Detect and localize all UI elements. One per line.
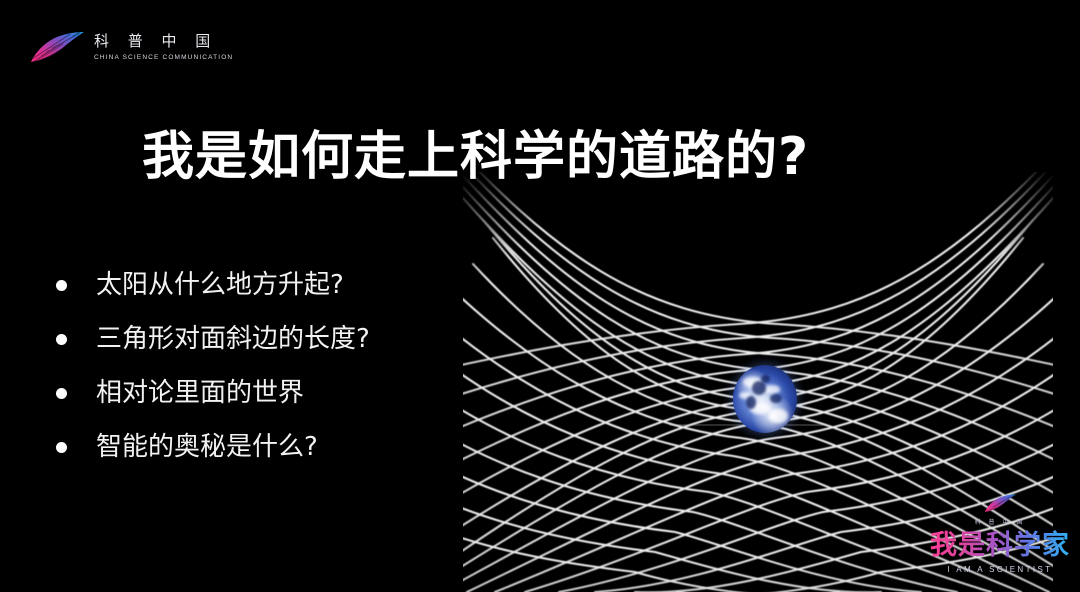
bullet-list: 太阳从什么地方升起? 三角形对面斜边的长度? 相对论里面的世界 智能的奥秘是什么… — [56, 258, 456, 474]
bullet-dot-icon — [56, 334, 67, 345]
kepu-china-fan-mark-icon — [28, 30, 86, 70]
list-item: 太阳从什么地方升起? — [56, 258, 456, 312]
footer-logo-en-text: I AM A SCIENTIST — [928, 564, 1072, 575]
presentation-slide: 科 普 中 国 CHINA SCIENCE COMMUNICATION 我是如何… — [0, 0, 1080, 592]
header-logo: 科 普 中 国 CHINA SCIENCE COMMUNICATION — [28, 28, 258, 76]
kepu-china-fan-mark-icon — [983, 492, 1017, 518]
header-logo-wordmark: 科 普 中 国 CHINA SCIENCE COMMUNICATION — [94, 32, 258, 62]
bullet-dot-icon — [56, 280, 67, 291]
list-item: 智能的奥秘是什么? — [56, 420, 456, 474]
list-item-label: 智能的奥秘是什么? — [96, 432, 318, 462]
list-item-label: 太阳从什么地方升起? — [96, 270, 344, 300]
list-item: 三角形对面斜边的长度? — [56, 312, 456, 366]
footer-logo-cn-text: 我是科学家 — [928, 530, 1072, 562]
list-item-label: 相对论里面的世界 — [96, 378, 304, 408]
footer-logo-kepu-text: 科 普 中 国 — [928, 519, 1072, 527]
earth-sphere — [733, 365, 797, 433]
header-logo-cn-text: 科 普 中 国 — [94, 32, 258, 51]
list-item-label: 三角形对面斜边的长度? — [96, 324, 370, 354]
bullet-dot-icon — [56, 388, 67, 399]
footer-logo: 科 普 中 国 我是科学家 I AM A SCIENTIST — [928, 492, 1072, 578]
header-logo-en-text: CHINA SCIENCE COMMUNICATION — [94, 53, 258, 62]
bullet-dot-icon — [56, 442, 67, 453]
list-item: 相对论里面的世界 — [56, 366, 456, 420]
